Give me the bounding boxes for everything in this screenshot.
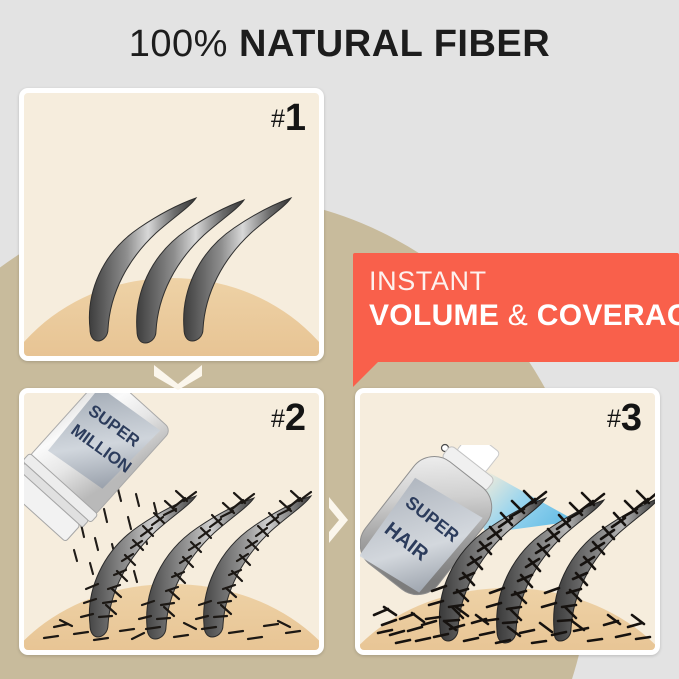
infographic-root: 100% NATURAL FIBER [0, 0, 679, 679]
fiber-shaker-bottle: SUPER MILLION [24, 393, 178, 565]
arrow-right-icon [324, 494, 352, 546]
title-percent: 100% [129, 23, 228, 65]
arrow-down-icon [150, 360, 206, 390]
callout-line-1: INSTANT [369, 265, 671, 298]
callout-ampersand: & [508, 299, 528, 332]
title-main: NATURAL FIBER [239, 23, 550, 65]
step-panel-2: SUPER MILLION #2 [19, 388, 324, 655]
callout-coverage: COVERAGE [537, 299, 679, 332]
page-title: 100% NATURAL FIBER [0, 20, 679, 68]
step-panel-1: #1 [19, 88, 324, 361]
callout-line-2: VOLUME & COVERAGE [369, 298, 671, 334]
callout-volume: VOLUME [369, 299, 499, 332]
panel-number-2: #2 [271, 401, 306, 436]
panel-number-3: #3 [607, 401, 642, 436]
callout-tail [353, 361, 379, 387]
instant-volume-callout: INSTANT VOLUME & COVERAGE [353, 253, 679, 362]
step-panel-3: SUPER HAIR [355, 388, 660, 655]
panel-number-1: #1 [271, 101, 306, 136]
